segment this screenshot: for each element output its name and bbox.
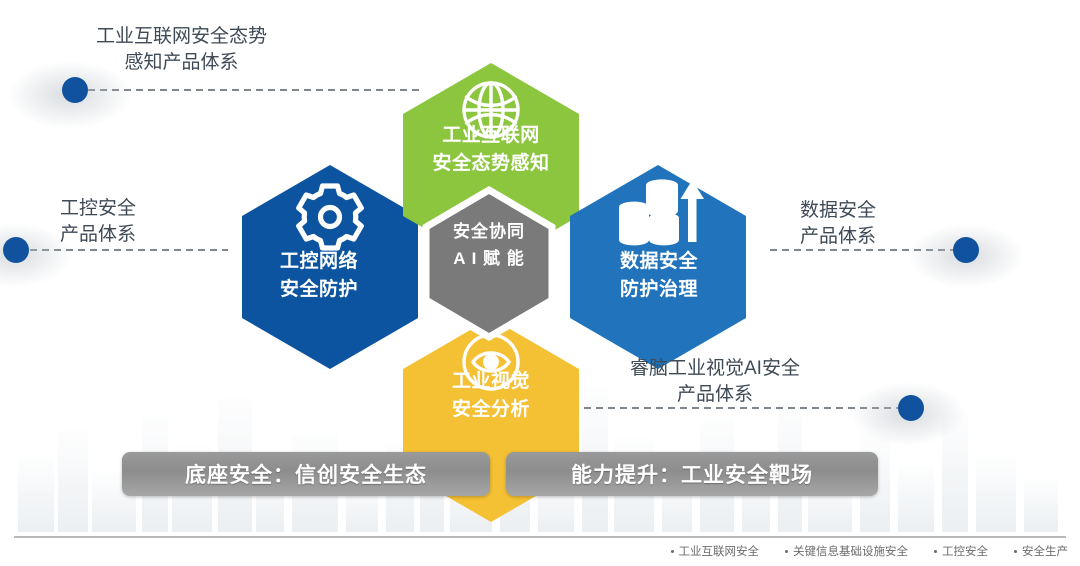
- hexagon-center-ai-collaboration[interactable]: [426, 190, 552, 337]
- callout-right-line1: 数据安全: [800, 198, 876, 224]
- footer-divider: [14, 536, 1066, 538]
- footer-tag-label: 工业互联网安全: [679, 543, 760, 559]
- callout-top-left-line2: 感知产品体系: [96, 50, 267, 76]
- footer-tag: 安全生产: [1014, 543, 1068, 559]
- callout-bottom-right-line1: 睿脑工业视觉AI安全: [630, 356, 800, 382]
- dot-top-left: [62, 77, 88, 103]
- callout-top-left-line1: 工业互联网安全态势: [96, 24, 267, 50]
- footer-tag: 工业互联网安全: [671, 543, 760, 559]
- diagram-canvas: 工业互联网 安全态势感知 工控网络 安全防护 数据安全 防护治理 工业视觉 安全…: [0, 0, 1080, 566]
- footer-tag: 关键信息基础设施安全: [785, 543, 908, 559]
- callout-left-line2: 产品体系: [60, 222, 136, 248]
- footer-tag-label: 工控安全: [942, 543, 988, 559]
- callout-bottom-right: 睿脑工业视觉AI安全 产品体系: [630, 356, 800, 407]
- globe-icon: [464, 83, 518, 137]
- bullet-icon: [671, 550, 674, 553]
- dot-left: [3, 237, 29, 263]
- callout-top-left: 工业互联网安全态势 感知产品体系: [96, 24, 267, 75]
- bullet-icon: [934, 550, 937, 553]
- callout-bottom-right-line2: 产品体系: [630, 382, 800, 408]
- footer-tag-list: 工业互联网安全 关键信息基础设施安全 工控安全 安全生产: [671, 543, 1069, 559]
- callout-left-line1: 工控安全: [60, 196, 136, 222]
- footer-tag: 工控安全: [934, 543, 988, 559]
- callout-left: 工控安全 产品体系: [60, 196, 136, 247]
- callout-right-line2: 产品体系: [800, 224, 876, 250]
- bullet-icon: [785, 550, 788, 553]
- hexagon-ics-network-protection[interactable]: [242, 165, 418, 369]
- footer-tag-label: 关键信息基础设施安全: [793, 543, 908, 559]
- callout-right: 数据安全 产品体系: [800, 198, 876, 249]
- bar-foundation-security[interactable]: 底座安全：信创安全生态: [122, 452, 490, 496]
- dot-bottom-right: [898, 395, 924, 421]
- bullet-icon: [1014, 550, 1017, 553]
- bar-capability-improvement[interactable]: 能力提升：工业安全靶场: [506, 452, 878, 496]
- footer-tag-label: 安全生产: [1022, 543, 1068, 559]
- foundation-bars: 底座安全：信创安全生态 能力提升：工业安全靶场: [0, 452, 1080, 500]
- dot-right: [953, 237, 979, 263]
- hexagon-data-security-governance[interactable]: [570, 165, 746, 369]
